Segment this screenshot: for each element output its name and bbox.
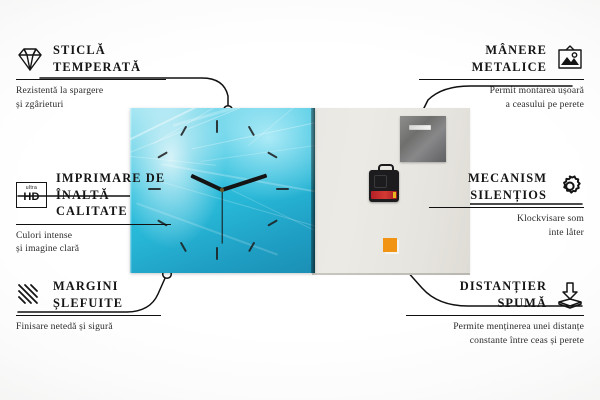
feature-subtitle: Rezistentă la spargere și zgârieturi <box>16 84 166 111</box>
feature-header: MECANISM SILENȚIOS <box>429 170 584 203</box>
feature-title: DISTANȚIER SPUMĂ <box>460 278 547 311</box>
gear-icon <box>556 173 584 200</box>
feature-title: IMPRIMARE DE ÎNALTĂ CALITATE <box>56 170 171 220</box>
feature-tempered-glass: STICLĂ TEMPERATĂ Rezistentă la spargere … <box>16 42 166 112</box>
picture-frame-icon <box>556 45 584 72</box>
product-image <box>130 108 470 273</box>
feature-header: STICLĂ TEMPERATĂ <box>16 42 166 75</box>
feature-header: ultra HD IMPRIMARE DE ÎNALTĂ CALITATE <box>16 170 171 220</box>
feature-title: STICLĂ TEMPERATĂ <box>53 42 141 75</box>
glass-right-edge <box>311 108 315 273</box>
feature-header: MARGINI ȘLEFUITE <box>16 278 161 311</box>
feature-metal-handles: MÂNERE METALICE Permit montarea ușoară a… <box>419 42 584 112</box>
feature-hd-print: ultra HD IMPRIMARE DE ÎNALTĂ CALITATE Cu… <box>16 170 171 256</box>
feature-rule <box>16 224 171 225</box>
clock-movement <box>369 170 399 202</box>
second-hand <box>221 190 222 244</box>
down-arrow-pad-icon <box>556 281 584 309</box>
feature-title: MECANISM SILENȚIOS <box>468 170 547 203</box>
feature-subtitle: Finisare netedă și sigură <box>16 320 161 334</box>
feature-subtitle: Permit montarea ușoară a ceasului pe per… <box>419 84 584 111</box>
movement-hanging-loop <box>378 164 394 174</box>
feature-header: DISTANȚIER SPUMĂ <box>406 278 584 311</box>
feature-title: MÂNERE METALICE <box>472 42 547 75</box>
feature-subtitle: Permite menținerea unei distanțe constan… <box>406 320 584 347</box>
hatched-edge-icon <box>16 282 44 308</box>
feature-rule <box>16 79 166 80</box>
movement-battery <box>371 191 397 199</box>
feature-rule <box>16 315 161 316</box>
metal-hanger-plate <box>400 116 446 162</box>
tick-6 <box>216 247 218 260</box>
feature-subtitle: Klockvisare som inte låter <box>429 212 584 239</box>
hands-center-pin <box>220 188 224 192</box>
hanger-slot <box>409 125 431 130</box>
feature-rule <box>406 315 584 316</box>
ultra-hd-icon: ultra HD <box>16 182 47 208</box>
diamond-icon <box>16 46 44 72</box>
feature-polished-edges: MARGINI ȘLEFUITE Finisare netedă și sigu… <box>16 278 161 334</box>
foam-spacer-square <box>383 238 397 252</box>
feature-subtitle: Culori intense și imagine clară <box>16 229 171 256</box>
feature-rule <box>419 79 584 80</box>
feature-title: MARGINI ȘLEFUITE <box>53 278 123 311</box>
infographic-canvas: STICLĂ TEMPERATĂ Rezistentă la spargere … <box>0 0 600 400</box>
feature-silent-mechanism: MECANISM SILENȚIOS Klockvisare som inte … <box>429 170 584 240</box>
feature-header: MÂNERE METALICE <box>419 42 584 75</box>
tick-12 <box>216 120 218 133</box>
feature-rule <box>429 207 584 208</box>
tick-3 <box>276 188 289 190</box>
feature-foam-spacer: DISTANȚIER SPUMĂ Permite menținerea unei… <box>406 278 584 348</box>
movement-dial <box>374 175 387 188</box>
